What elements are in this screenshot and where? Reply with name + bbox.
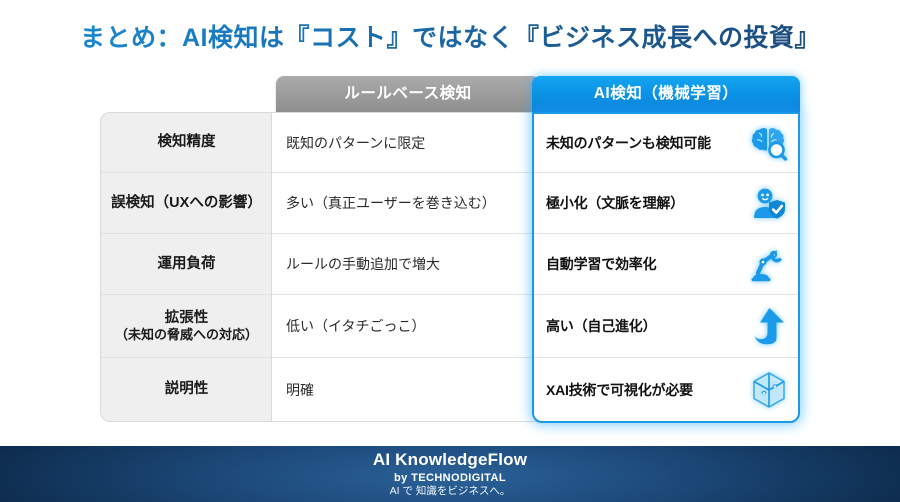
robot-arm-icon (748, 243, 790, 285)
label-column: 検知精度 誤検知（UXへの影響） 運用負荷 拡張性 （未知の脅威への対応） 説明… (100, 76, 272, 422)
label-text: 検知精度 (158, 133, 216, 151)
transparent-cube-gears-icon (748, 369, 790, 411)
comparison-table: 検知精度 誤検知（UXへの影響） 運用負荷 拡張性 （未知の脅威への対応） 説明… (100, 76, 800, 421)
row-label-explainability: 説明性 (101, 358, 272, 421)
rule-based-header: ルールベース検知 (276, 76, 540, 112)
label-text: 誤検知（UXへの影響） (111, 194, 262, 212)
label-text: 拡張性 (165, 310, 209, 326)
table-row: 極小化（文脈を理解） (534, 173, 798, 234)
brain-search-icon (748, 122, 790, 164)
ai-cell-text: 高い（自己進化） (546, 316, 748, 336)
ai-cell-text: XAI技術で可視化が必要 (546, 380, 748, 400)
label-column-body: 検知精度 誤検知（UXへの影響） 運用負荷 拡張性 （未知の脅威への対応） 説明… (100, 112, 272, 422)
row-label-ops-burden: 運用負荷 (101, 234, 272, 295)
label-column-header (100, 76, 272, 112)
table-row: 高い（自己進化） (534, 295, 798, 358)
label-text: 運用負荷 (158, 255, 216, 273)
page-title: まとめ：AI検知は『コスト』ではなく『ビジネス成長への投資』 (0, 18, 900, 54)
table-row: 自動学習で効率化 (534, 234, 798, 295)
verified-user-icon (748, 182, 790, 224)
row-label-scalability: 拡張性 （未知の脅威への対応） (101, 295, 272, 358)
table-row: XAI技術で可視化が必要 (534, 358, 798, 421)
ai-cell-text: 未知のパターンも検知可能 (546, 133, 748, 153)
row-label-detection-accuracy: 検知精度 (101, 113, 272, 173)
label-text: 説明性 (165, 380, 209, 398)
footer-bar: AI KnowledgeFlow by TECHNODIGITAL AI で 知… (0, 446, 900, 502)
ai-cell-text: 極小化（文脈を理解） (546, 193, 748, 213)
ai-column-body: 未知のパターンも検知可能 極 (532, 112, 800, 423)
up-arrow-icon (748, 305, 790, 347)
footer-brand: AI KnowledgeFlow (373, 451, 527, 470)
row-label-false-positive: 誤検知（UXへの影響） (101, 173, 272, 234)
ai-header: AI検知（機械学習） (532, 76, 800, 112)
ai-cell-text: 自動学習で効率化 (546, 254, 748, 274)
footer-tagline: AI で 知識をビジネスへ。 (390, 486, 511, 498)
label-subtext: （未知の脅威への対応） (115, 327, 258, 343)
ai-column: AI検知（機械学習） 未知のパターンも検知可能 (532, 76, 800, 423)
footer-byline: by TECHNODIGITAL (394, 472, 506, 484)
table-row: 未知のパターンも検知可能 (534, 114, 798, 173)
